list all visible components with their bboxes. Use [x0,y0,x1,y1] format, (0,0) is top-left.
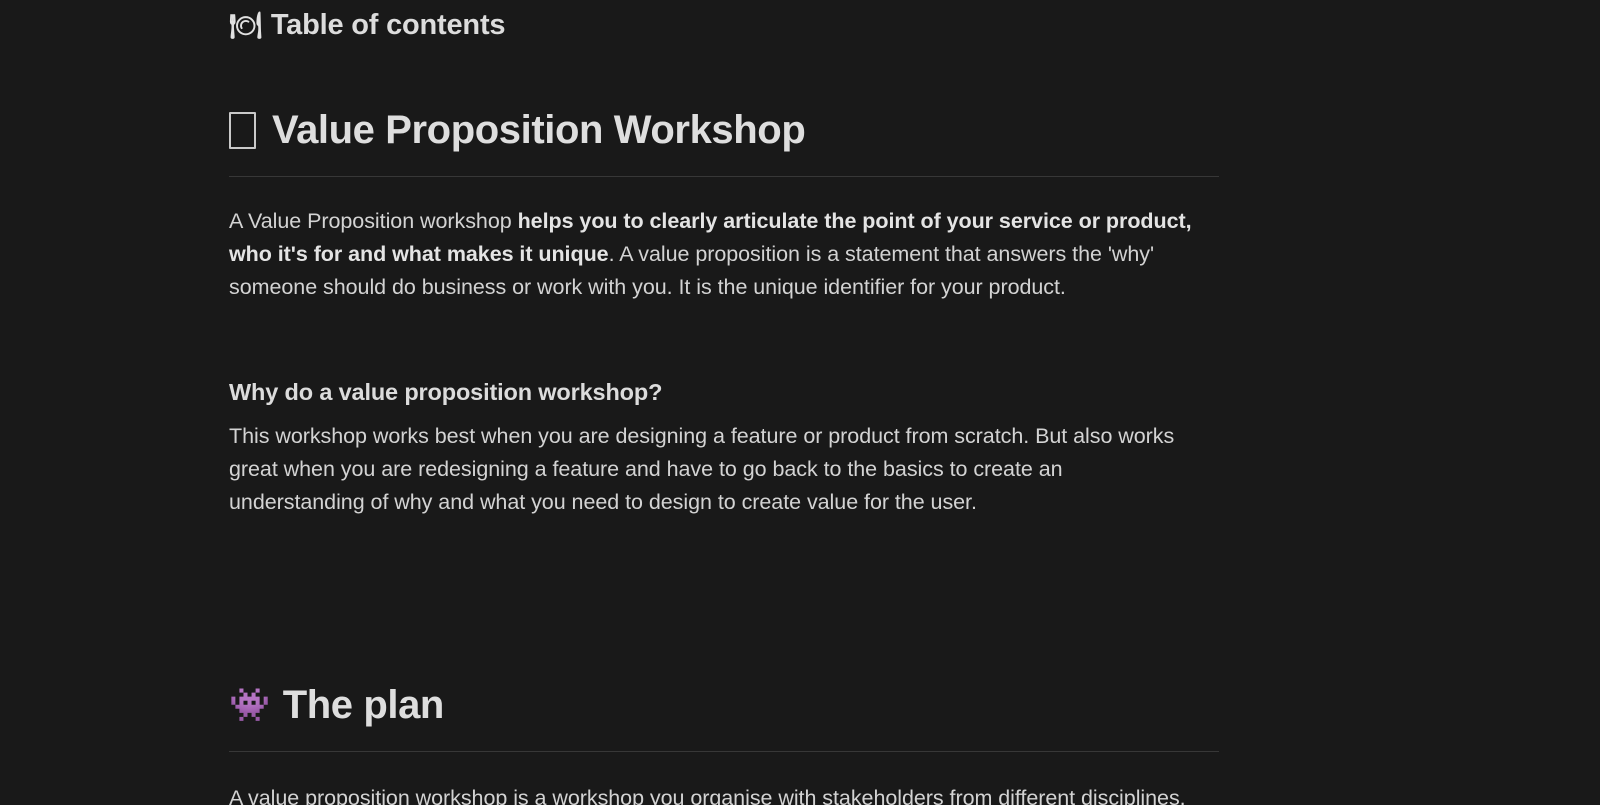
subsection-paragraph-why: This workshop works best when you are de… [229,408,1194,519]
missing-glyph-box-icon [229,112,256,149]
document-page: 🍽 Table of contents Value Proposition Wo… [0,0,1600,805]
table-of-contents-label: Table of contents [271,7,506,43]
intro-text-before-bold: A Value Proposition workshop [229,209,518,233]
plan-line-1: A value proposition workshop is a worksh… [229,782,1194,805]
section-title: Value Proposition Workshop [272,106,805,154]
alien-monster-icon: 👾 [229,688,270,721]
intro-paragraph: A Value Proposition workshop helps you t… [229,177,1194,304]
section-heading-the-plan: 👾 The plan [229,618,1219,729]
subsection-heading-why: Why do a value proposition workshop? [229,304,1219,408]
document-content: 🍽 Table of contents Value Proposition Wo… [229,0,1219,805]
section-title: The plan [283,681,444,729]
section-spacer [229,519,1219,618]
plate-with-cutlery-icon: 🍽 [229,12,262,38]
section-heading-value-proposition-workshop: Value Proposition Workshop [229,43,1219,154]
plan-paragraph: A value proposition workshop is a worksh… [229,752,1194,805]
table-of-contents-heading: 🍽 Table of contents [229,0,1219,43]
